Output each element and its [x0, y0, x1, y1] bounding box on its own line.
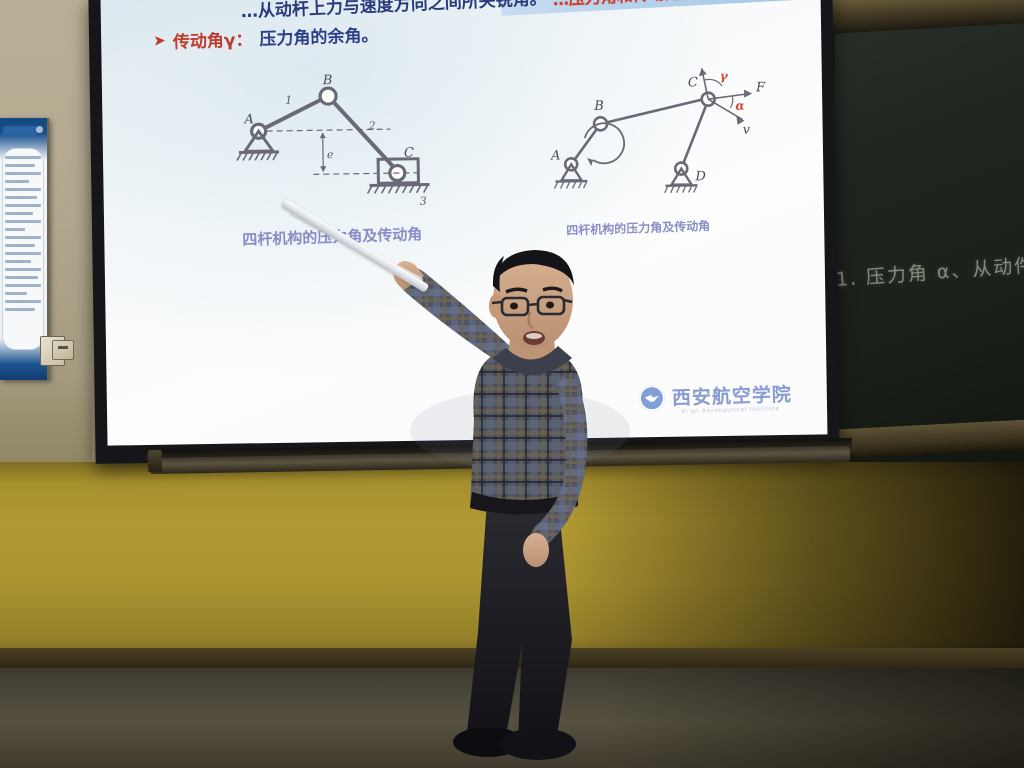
- svg-text:A: A: [243, 112, 254, 127]
- right-mechanism-diagram: A B C D F v γ α: [532, 57, 794, 221]
- power-outlet: [52, 340, 74, 360]
- classroom-scene: 1. 压力角 α、从动件上F与v所… …压力角和传动角定义 …从动杆上力与速度方…: [0, 0, 1024, 768]
- svg-text:C: C: [404, 146, 414, 161]
- svg-text:v: v: [743, 122, 751, 137]
- svg-text:B: B: [593, 99, 604, 114]
- poster-header-band: [3, 126, 37, 135]
- svg-text:D: D: [694, 169, 706, 184]
- svg-text:γ: γ: [720, 69, 729, 83]
- bullet-term: 传动角γ：: [172, 25, 252, 53]
- svg-text:α: α: [735, 99, 744, 113]
- institution-logo: 西安航空学院 Xi'an Aeronautical Institute: [638, 380, 792, 412]
- poster-text-lines: [5, 156, 41, 342]
- svg-text:A: A: [550, 148, 561, 163]
- floor-shadow: [600, 668, 1024, 768]
- left-mechanism-diagram: A B C 1 2 3 e: [222, 66, 474, 230]
- svg-text:B: B: [322, 73, 333, 88]
- screen-roller-knob[interactable]: [148, 450, 162, 472]
- poster-corner-dot: [36, 126, 43, 133]
- slide-content: …压力角和传动角定义 …从动杆上力与速度方向之间所夹锐角。 ➤ 传动角γ： 压力…: [101, 0, 828, 446]
- svg-text:3: 3: [420, 195, 427, 208]
- projection-screen: …压力角和传动角定义 …从动杆上力与速度方向之间所夹锐角。 ➤ 传动角γ： 压力…: [101, 0, 828, 446]
- right-figure-caption: 四杆机构的压力角及传动角: [566, 217, 711, 239]
- svg-text:F: F: [755, 80, 766, 95]
- blackboard: [828, 0, 1024, 470]
- svg-text:2: 2: [367, 119, 375, 132]
- lower-wall-shadow: [560, 462, 1024, 662]
- bullet-definition: 压力角的余角。: [259, 21, 379, 50]
- svg-text:e: e: [327, 148, 334, 161]
- bullet-arrow-icon: ➤: [153, 33, 166, 48]
- svg-text:1: 1: [285, 94, 292, 107]
- svg-text:C: C: [688, 75, 698, 90]
- logo-emblem-icon: [638, 384, 665, 411]
